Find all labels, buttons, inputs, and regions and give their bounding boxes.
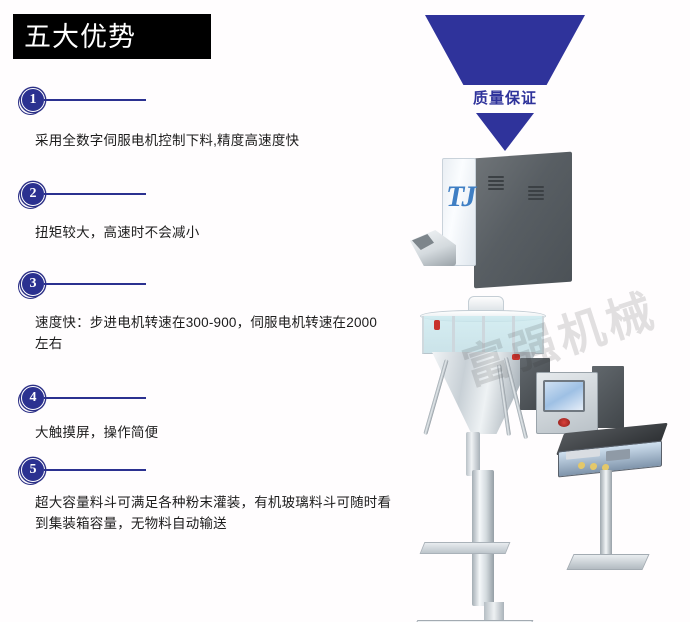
feature-badge-row-4: 4 [0,386,410,416]
feature-number-badge-4: 4 [18,386,46,414]
badge-number-3: 3 [21,272,45,296]
feature-item-4: 4 大触摸屏，操作简便 [0,386,410,416]
feature-text-1: 采用全数字伺服电机控制下料,精度高速度快 [35,130,395,151]
cabinet-vent-left [488,176,504,178]
emergency-stop-button[interactable] [558,418,570,427]
hopper-knob-red [434,320,440,330]
badge-number-4: 4 [21,386,45,410]
cabinet-vent-right [528,186,544,188]
feature-text-3: 速度快：步进电机转速在300-900，伺服电机转速在2000左右 [35,312,387,354]
product-feature-page: 五大优势 1 采用全数字伺服电机控制下料,精度高速度快 2 扭矩 [0,0,690,622]
base-center-mount [484,602,504,622]
feature-badge-row-1: 1 [0,88,410,118]
hopper-strut-mid [482,316,485,354]
feature-item-5: 5 超大容量料斗可满足各种粉末灌装，有机玻璃料斗可随时看到集装箱容量，无物料自动… [0,458,410,488]
badge-rule-4 [44,397,146,399]
scale-stand-base [566,554,649,570]
badge-number-1: 1 [21,88,45,112]
machine-control-cabinet [474,152,572,289]
hopper-strut-left [452,316,455,354]
feature-item-3: 3 速度快：步进电机转速在300-900，伺服电机转速在2000左右 [0,272,410,302]
badge-number-2: 2 [21,182,45,206]
features-column: 五大优势 1 采用全数字伺服电机控制下料,精度高速度快 2 扭矩 [0,0,410,622]
feature-item-1: 1 采用全数字伺服电机控制下料,精度高速度快 [0,88,410,118]
feature-item-2: 2 扭矩较大，高速时不会减小 [0,182,410,212]
quality-guarantee-label: 质量保证 [425,85,585,113]
quality-funnel-lower-icon [476,113,534,151]
feature-number-badge-5: 5 [18,458,46,486]
badge-rule-5 [44,469,146,471]
hopper-strut-right [512,316,515,354]
quality-funnel-upper-icon [425,15,585,85]
badge-rule-1 [44,99,146,101]
badge-number-5: 5 [21,458,45,482]
feature-number-badge-3: 3 [18,272,46,300]
touchscreen-display[interactable] [543,380,585,412]
scale-stand-post [600,470,612,562]
product-platform-shelf [420,542,511,554]
page-title: 五大优势 [24,18,136,56]
feature-badge-row-2: 2 [0,182,410,212]
feature-text-2: 扭矩较大，高速时不会减小 [35,222,395,243]
feature-text-5: 超大容量料斗可满足各种粉末灌装，有机玻璃料斗可随时看到集装箱容量，无物料自动输送 [35,492,395,534]
feature-number-badge-2: 2 [18,182,46,210]
brand-logo-icon: TJ [446,178,472,216]
rod-knob-red [512,354,520,360]
feature-number-badge-1: 1 [18,88,46,116]
badge-rule-2 [44,193,146,195]
feature-text-4: 大触摸屏，操作简便 [35,422,395,443]
support-rod-left [423,359,448,435]
product-image-column: 质量保证 TJ [410,0,690,622]
machine-photo: TJ [410,150,690,600]
badge-rule-3 [44,283,146,285]
machine-support-column [472,470,494,606]
feature-badge-row-5: 5 [0,458,410,488]
section-header-banner: 五大优势 [13,14,211,59]
feature-badge-row-3: 3 [0,272,410,302]
